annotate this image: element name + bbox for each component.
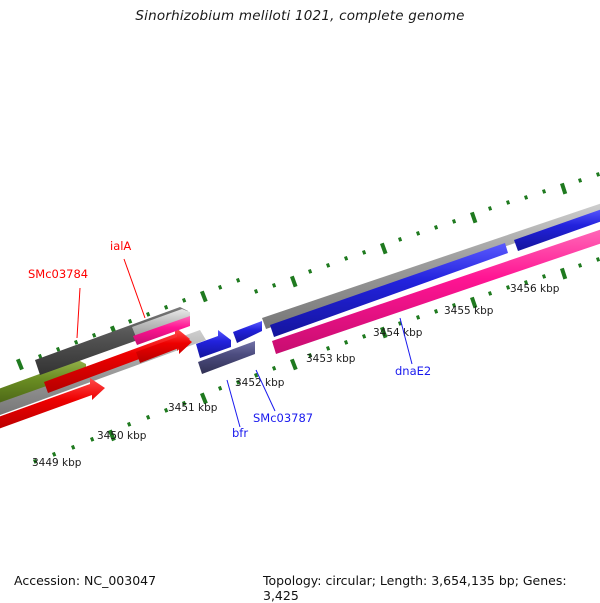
- gene-feature[interactable]: [233, 321, 262, 343]
- scale-tick-label: 3456 kbp: [510, 283, 560, 295]
- genome-backbone-right: [262, 202, 600, 329]
- feature-track-right[interactable]: [270, 208, 600, 354]
- feature-track-left[interactable]: [0, 307, 192, 432]
- accession-text: Accession: NC_003047: [14, 573, 156, 588]
- feature-track-middle[interactable]: [196, 321, 262, 374]
- gene-label-iala[interactable]: ialA: [110, 239, 131, 253]
- gene-label-bfr[interactable]: bfr: [232, 426, 248, 440]
- gene-label-dnae2[interactable]: dnaE2: [395, 364, 431, 378]
- genome-stats-text: Topology: circular; Length: 3,654,135 bp…: [263, 573, 600, 603]
- scale-tick-label: 3455 kbp: [444, 305, 494, 317]
- scale-tick-label: 3451 kbp: [168, 402, 218, 414]
- scale-tick-label: 3450 kbp: [97, 430, 147, 442]
- gene-feature[interactable]: [270, 243, 508, 337]
- gene-label-smc03784[interactable]: SMc03784: [28, 267, 88, 281]
- gene-label-smc03787[interactable]: SMc03787: [253, 411, 313, 425]
- scale-tick-label: 3453 kbp: [306, 353, 356, 365]
- genome-arc-canvas[interactable]: 3449 kbp 3450 kbp 3451 kbp 3452 kbp 3453…: [0, 0, 600, 600]
- genome-viewer[interactable]: Sinorhizobium meliloti 1021, complete ge…: [0, 0, 600, 600]
- scale-tick-label: 3454 kbp: [373, 327, 423, 339]
- scale-tick-label: 3449 kbp: [32, 457, 82, 469]
